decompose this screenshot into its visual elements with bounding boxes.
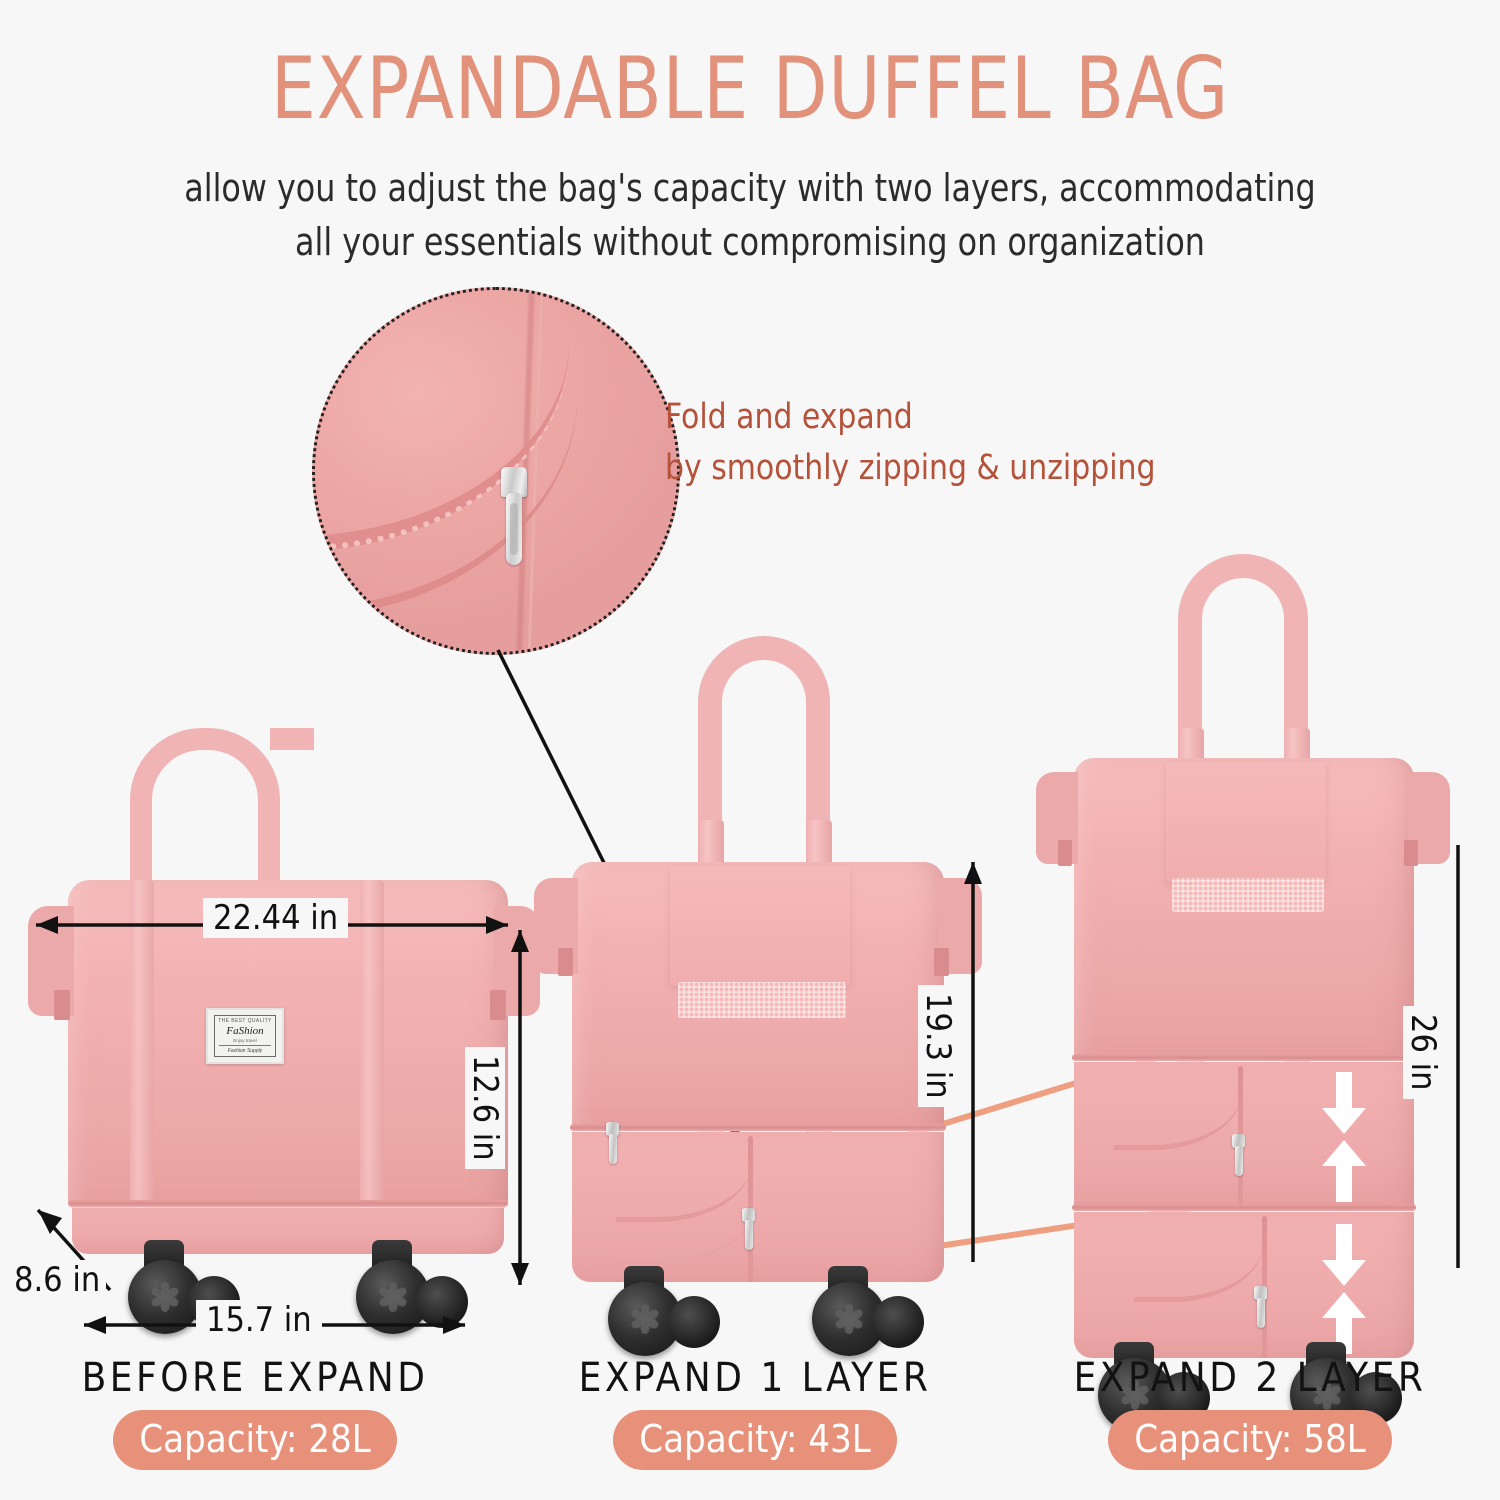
bag2-zipper-pull-lower (742, 1208, 755, 1248)
bag3-buckle-left (1058, 840, 1072, 866)
bag1-zipper-band (68, 1200, 508, 1207)
brand-divider (219, 1045, 271, 1046)
expand-arrow-down-2 (1322, 1224, 1366, 1286)
dim-bag1-height: 12.6 in (465, 1047, 505, 1169)
brand-sub-text: Enjoy travel (233, 1038, 257, 1043)
dim-bag1-bottom-width: 15.7 in (196, 1300, 322, 1340)
bag3-zipper-band-upper (1072, 1054, 1416, 1061)
brand-top-text: THE BEST QUALITY (218, 1018, 272, 1024)
bag2-buckle-left (558, 948, 573, 976)
variant-expand-2-layer: EXPAND 2 LAYER Capacity: 58L (1025, 1355, 1475, 1470)
variant-label: EXPAND 2 LAYER (1025, 1355, 1475, 1401)
bag3-zipper-band-lower (1072, 1204, 1416, 1211)
bag1-wheel-right-rear (416, 1276, 468, 1328)
bag3-handle (1178, 554, 1308, 744)
callout-line-2: by smoothly zipping & unzipping (665, 443, 1156, 494)
callout-line-1: Fold and expand (665, 392, 1156, 443)
subtitle-line-1: allow you to adjust the bag's capacity w… (99, 162, 1401, 216)
fold-expand-callout: Fold and expand by smoothly zipping & un… (665, 392, 1156, 494)
bag3-buckle-right (1404, 840, 1418, 866)
bag2-mesh-panel (678, 982, 846, 1018)
bag2-buckle-right (934, 948, 949, 976)
bag2-zipper-pull-upper (606, 1122, 619, 1162)
dim-bag1-depth: 8.6 in (8, 1260, 106, 1300)
bag2-zipper-band (570, 1124, 946, 1131)
bag2-handle (698, 636, 830, 836)
bag3-top-flap (1166, 762, 1326, 882)
zipper-closeup-circle (312, 287, 680, 655)
bag-expand-2-layer (1010, 548, 1460, 1308)
brand-bottom-text: Fashion Supply (228, 1048, 262, 1054)
variant-before-expand: BEFORE EXPAND Capacity: 28L (30, 1355, 480, 1470)
bag3-zipper-pull-lower (1254, 1286, 1267, 1326)
expand-arrow-up-1 (1322, 1140, 1366, 1202)
bag-before-expand: THE BEST QUALITY FaShion Enjoy travel Fa… (20, 720, 540, 1300)
variant-label: EXPAND 1 LAYER (530, 1355, 980, 1401)
variant-expand-1-layer: EXPAND 1 LAYER Capacity: 43L (530, 1355, 980, 1470)
bag3-zipper-pull-upper (1232, 1134, 1245, 1174)
bag1-bottom-panel (72, 1208, 504, 1254)
capacity-badge: Capacity: 28L (113, 1410, 397, 1470)
bag2-top-flap (670, 866, 850, 986)
bag1-buckle-right (490, 990, 506, 1020)
bag1-handle-right (270, 728, 314, 750)
bag2-wheel-left-rear (668, 1296, 720, 1348)
zipper-closeup-image (315, 290, 677, 652)
bag1-buckle-left (54, 990, 70, 1020)
page-subtitle: allow you to adjust the bag's capacity w… (99, 162, 1401, 270)
expand-arrow-down-1 (1322, 1072, 1366, 1134)
bag-expand-1-layer (520, 630, 990, 1310)
brand-label-box: THE BEST QUALITY FaShion Enjoy travel Fa… (214, 1015, 276, 1057)
brand-label-tag: THE BEST QUALITY FaShion Enjoy travel Fa… (206, 1008, 284, 1064)
page-title: EXPANDABLE DUFFEL BAG (60, 46, 1440, 132)
dim-bag2-height: 19.3 in (918, 985, 958, 1107)
bag1-webbing-left (130, 880, 154, 1210)
zipper-pull-icon (501, 467, 527, 565)
bag2-wheel-right-rear (872, 1296, 924, 1348)
brand-name-text: FaShion (226, 1025, 263, 1037)
variant-label: BEFORE EXPAND (30, 1355, 480, 1401)
bag1-webbing-right (360, 880, 384, 1210)
dim-bag1-top-width: 22.44 in (203, 898, 348, 938)
capacity-badge: Capacity: 43L (613, 1410, 897, 1470)
infographic-page: EXPANDABLE DUFFEL BAG allow you to adjus… (0, 0, 1500, 1500)
zipper-pull-tab (506, 493, 522, 565)
bag3-mesh-panel (1172, 878, 1324, 912)
subtitle-line-2: all your essentials without compromising… (99, 216, 1401, 270)
capacity-badge: Capacity: 58L (1108, 1410, 1392, 1470)
dim-bag3-height: 26 in (1403, 1006, 1443, 1099)
